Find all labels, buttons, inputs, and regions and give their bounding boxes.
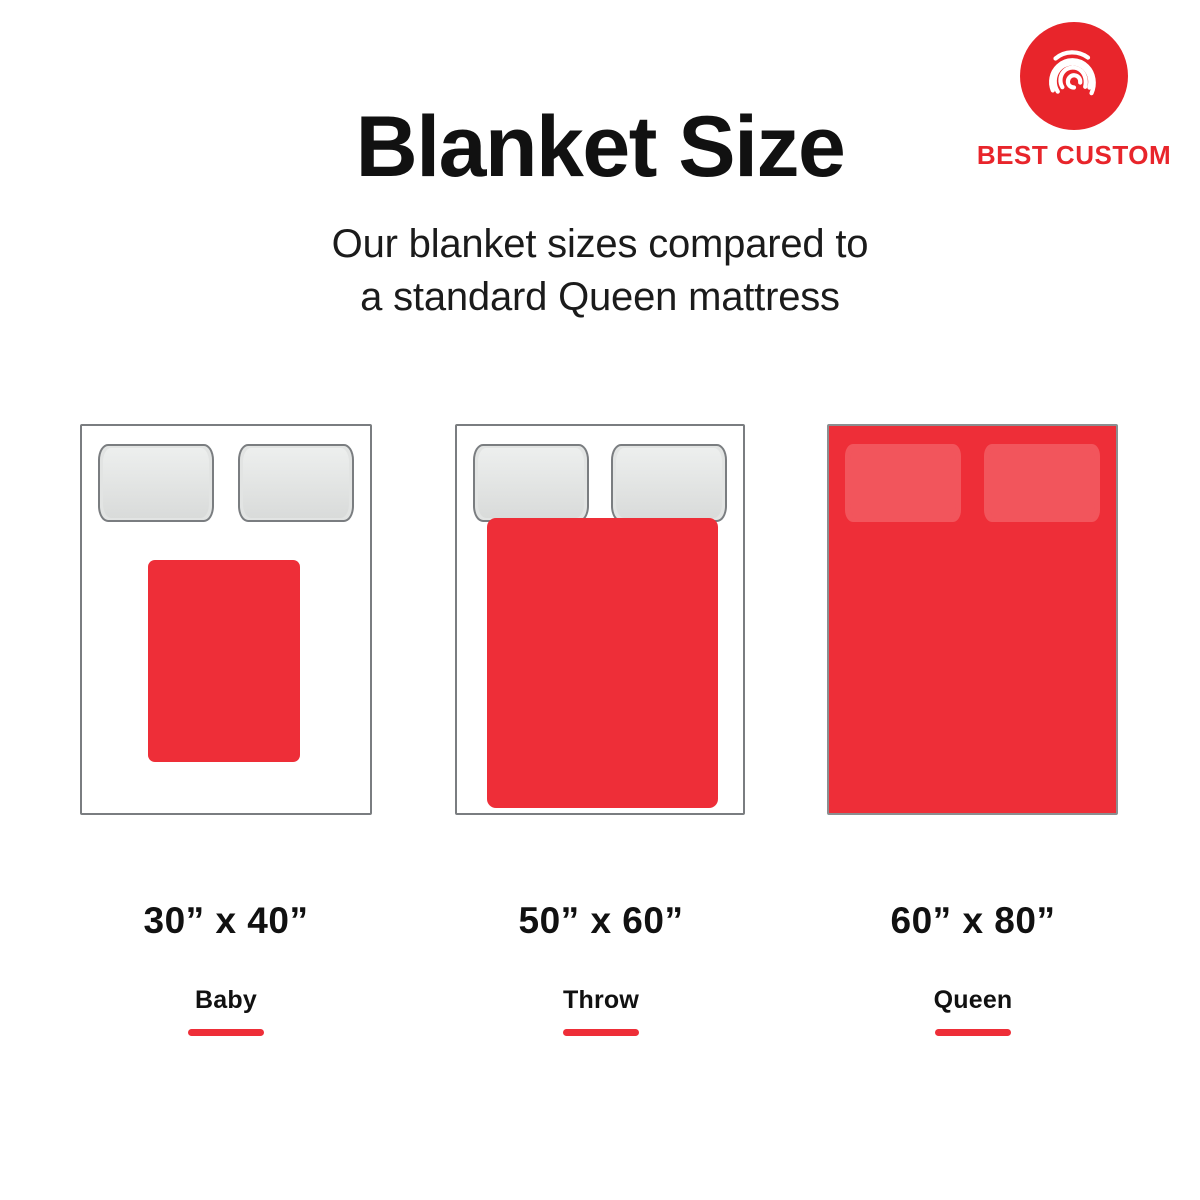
- dimensions-label-baby: 30” x 40”: [80, 900, 372, 942]
- page-title: Blanket Size: [0, 104, 1200, 192]
- caption-queen: 60” x 80” Queen: [827, 900, 1119, 1036]
- blanket-throw: [487, 518, 718, 808]
- accent-underline-baby: [188, 1029, 264, 1036]
- subtitle-line-1: Our blanket sizes compared to: [332, 222, 869, 266]
- header-block: Blanket Size Our blanket sizes compared …: [0, 104, 1200, 323]
- accent-underline-throw: [563, 1029, 639, 1036]
- page-subtitle: Our blanket sizes compared to a standard…: [0, 218, 1200, 324]
- caption-baby: 30” x 40” Baby: [80, 900, 372, 1036]
- pillow-left-queen: [845, 444, 961, 522]
- pillow-left-baby: [98, 444, 214, 522]
- pillow-right-baby: [238, 444, 354, 522]
- bed-comparison-diagrams: [0, 424, 1200, 824]
- subtitle-line-2: a standard Queen mattress: [0, 271, 1200, 324]
- bed-diagram-baby: [80, 424, 372, 815]
- pillow-left-throw: [473, 444, 589, 522]
- pillow-right-throw: [611, 444, 727, 522]
- caption-row: 30” x 40” Baby 50” x 60” Throw 60” x 80”…: [0, 900, 1200, 1060]
- bed-diagram-throw: [455, 424, 747, 815]
- mattress-outline-queen: [827, 424, 1118, 815]
- size-name-throw: Throw: [455, 986, 747, 1015]
- size-name-baby: Baby: [80, 986, 372, 1015]
- size-name-queen: Queen: [827, 986, 1119, 1015]
- blanket-baby: [148, 560, 300, 762]
- pillow-right-queen: [984, 444, 1100, 522]
- caption-throw: 50” x 60” Throw: [455, 900, 747, 1036]
- mattress-outline-throw: [455, 424, 745, 815]
- mattress-outline-baby: [80, 424, 372, 815]
- bed-diagram-queen: [827, 424, 1119, 815]
- accent-underline-queen: [935, 1029, 1011, 1036]
- dimensions-label-queen: 60” x 80”: [827, 900, 1119, 942]
- fingerprint-icon: [1037, 39, 1111, 113]
- dimensions-label-throw: 50” x 60”: [455, 900, 747, 942]
